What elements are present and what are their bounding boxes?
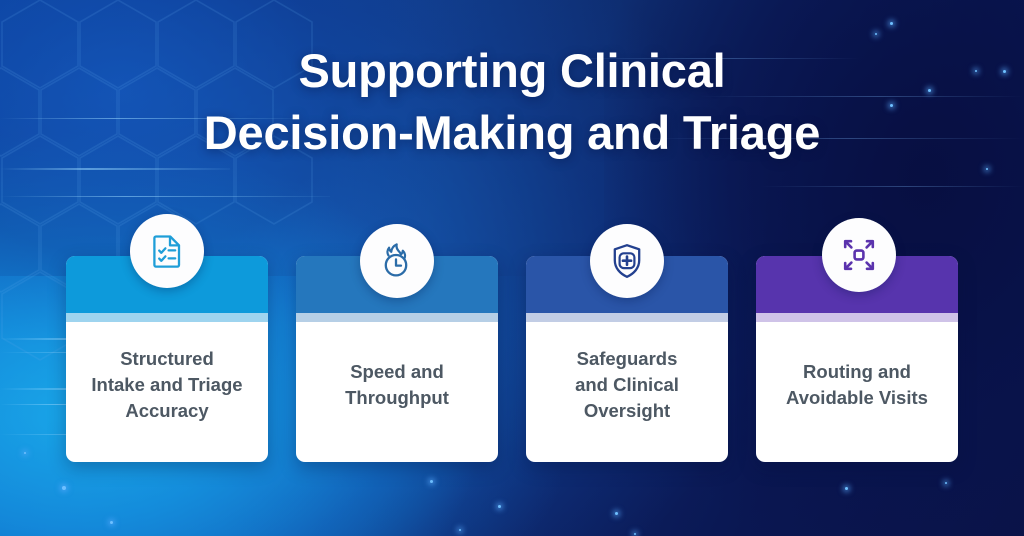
card-label-line: Intake and Triage: [91, 374, 242, 395]
card-label: Routing and Avoidable Visits: [786, 359, 928, 412]
card-divider-strip: [296, 313, 498, 322]
clock-flame-icon: [377, 241, 417, 281]
icon-badge-speed-throughput: [360, 224, 434, 298]
page-title: Supporting Clinical Decision-Making and …: [0, 40, 1024, 164]
document-checklist-icon: [147, 231, 187, 271]
card-body: Safeguards and Clinical Oversight: [526, 322, 728, 462]
page-title-line-2: Decision-Making and Triage: [0, 102, 1024, 164]
card-label-line: Safeguards: [577, 348, 678, 369]
card-label-line: Speed and: [350, 361, 444, 382]
card-divider-strip: [66, 313, 268, 322]
card-label-line: Structured: [120, 348, 214, 369]
card-label-line: Accuracy: [125, 400, 208, 421]
icon-badge-structured-intake: [130, 214, 204, 288]
card-body: Speed and Throughput: [296, 322, 498, 462]
page-title-line-1: Supporting Clinical: [298, 44, 725, 97]
card-label-line: Routing and: [803, 361, 911, 382]
card-label: Speed and Throughput: [345, 359, 449, 412]
icon-badge-safeguards-oversight: [590, 224, 664, 298]
expand-arrows-icon: [839, 235, 879, 275]
card-body: Structured Intake and Triage Accuracy: [66, 322, 268, 462]
card-label: Structured Intake and Triage Accuracy: [91, 346, 242, 425]
card-body: Routing and Avoidable Visits: [756, 322, 958, 462]
card-label-line: Avoidable Visits: [786, 387, 928, 408]
infographic-slide: Supporting Clinical Decision-Making and …: [0, 0, 1024, 536]
card-label-line: Throughput: [345, 387, 449, 408]
card-divider-strip: [756, 313, 958, 322]
card-label-line: and Clinical: [575, 374, 679, 395]
card-divider-strip: [526, 313, 728, 322]
feature-card-list: Structured Intake and Triage Accuracy Sp…: [66, 256, 958, 462]
shield-medical-cross-icon: [607, 241, 647, 281]
card-label-line: Oversight: [584, 400, 670, 421]
icon-badge-routing-avoidable-visits: [822, 218, 896, 292]
card-label: Safeguards and Clinical Oversight: [575, 346, 679, 425]
